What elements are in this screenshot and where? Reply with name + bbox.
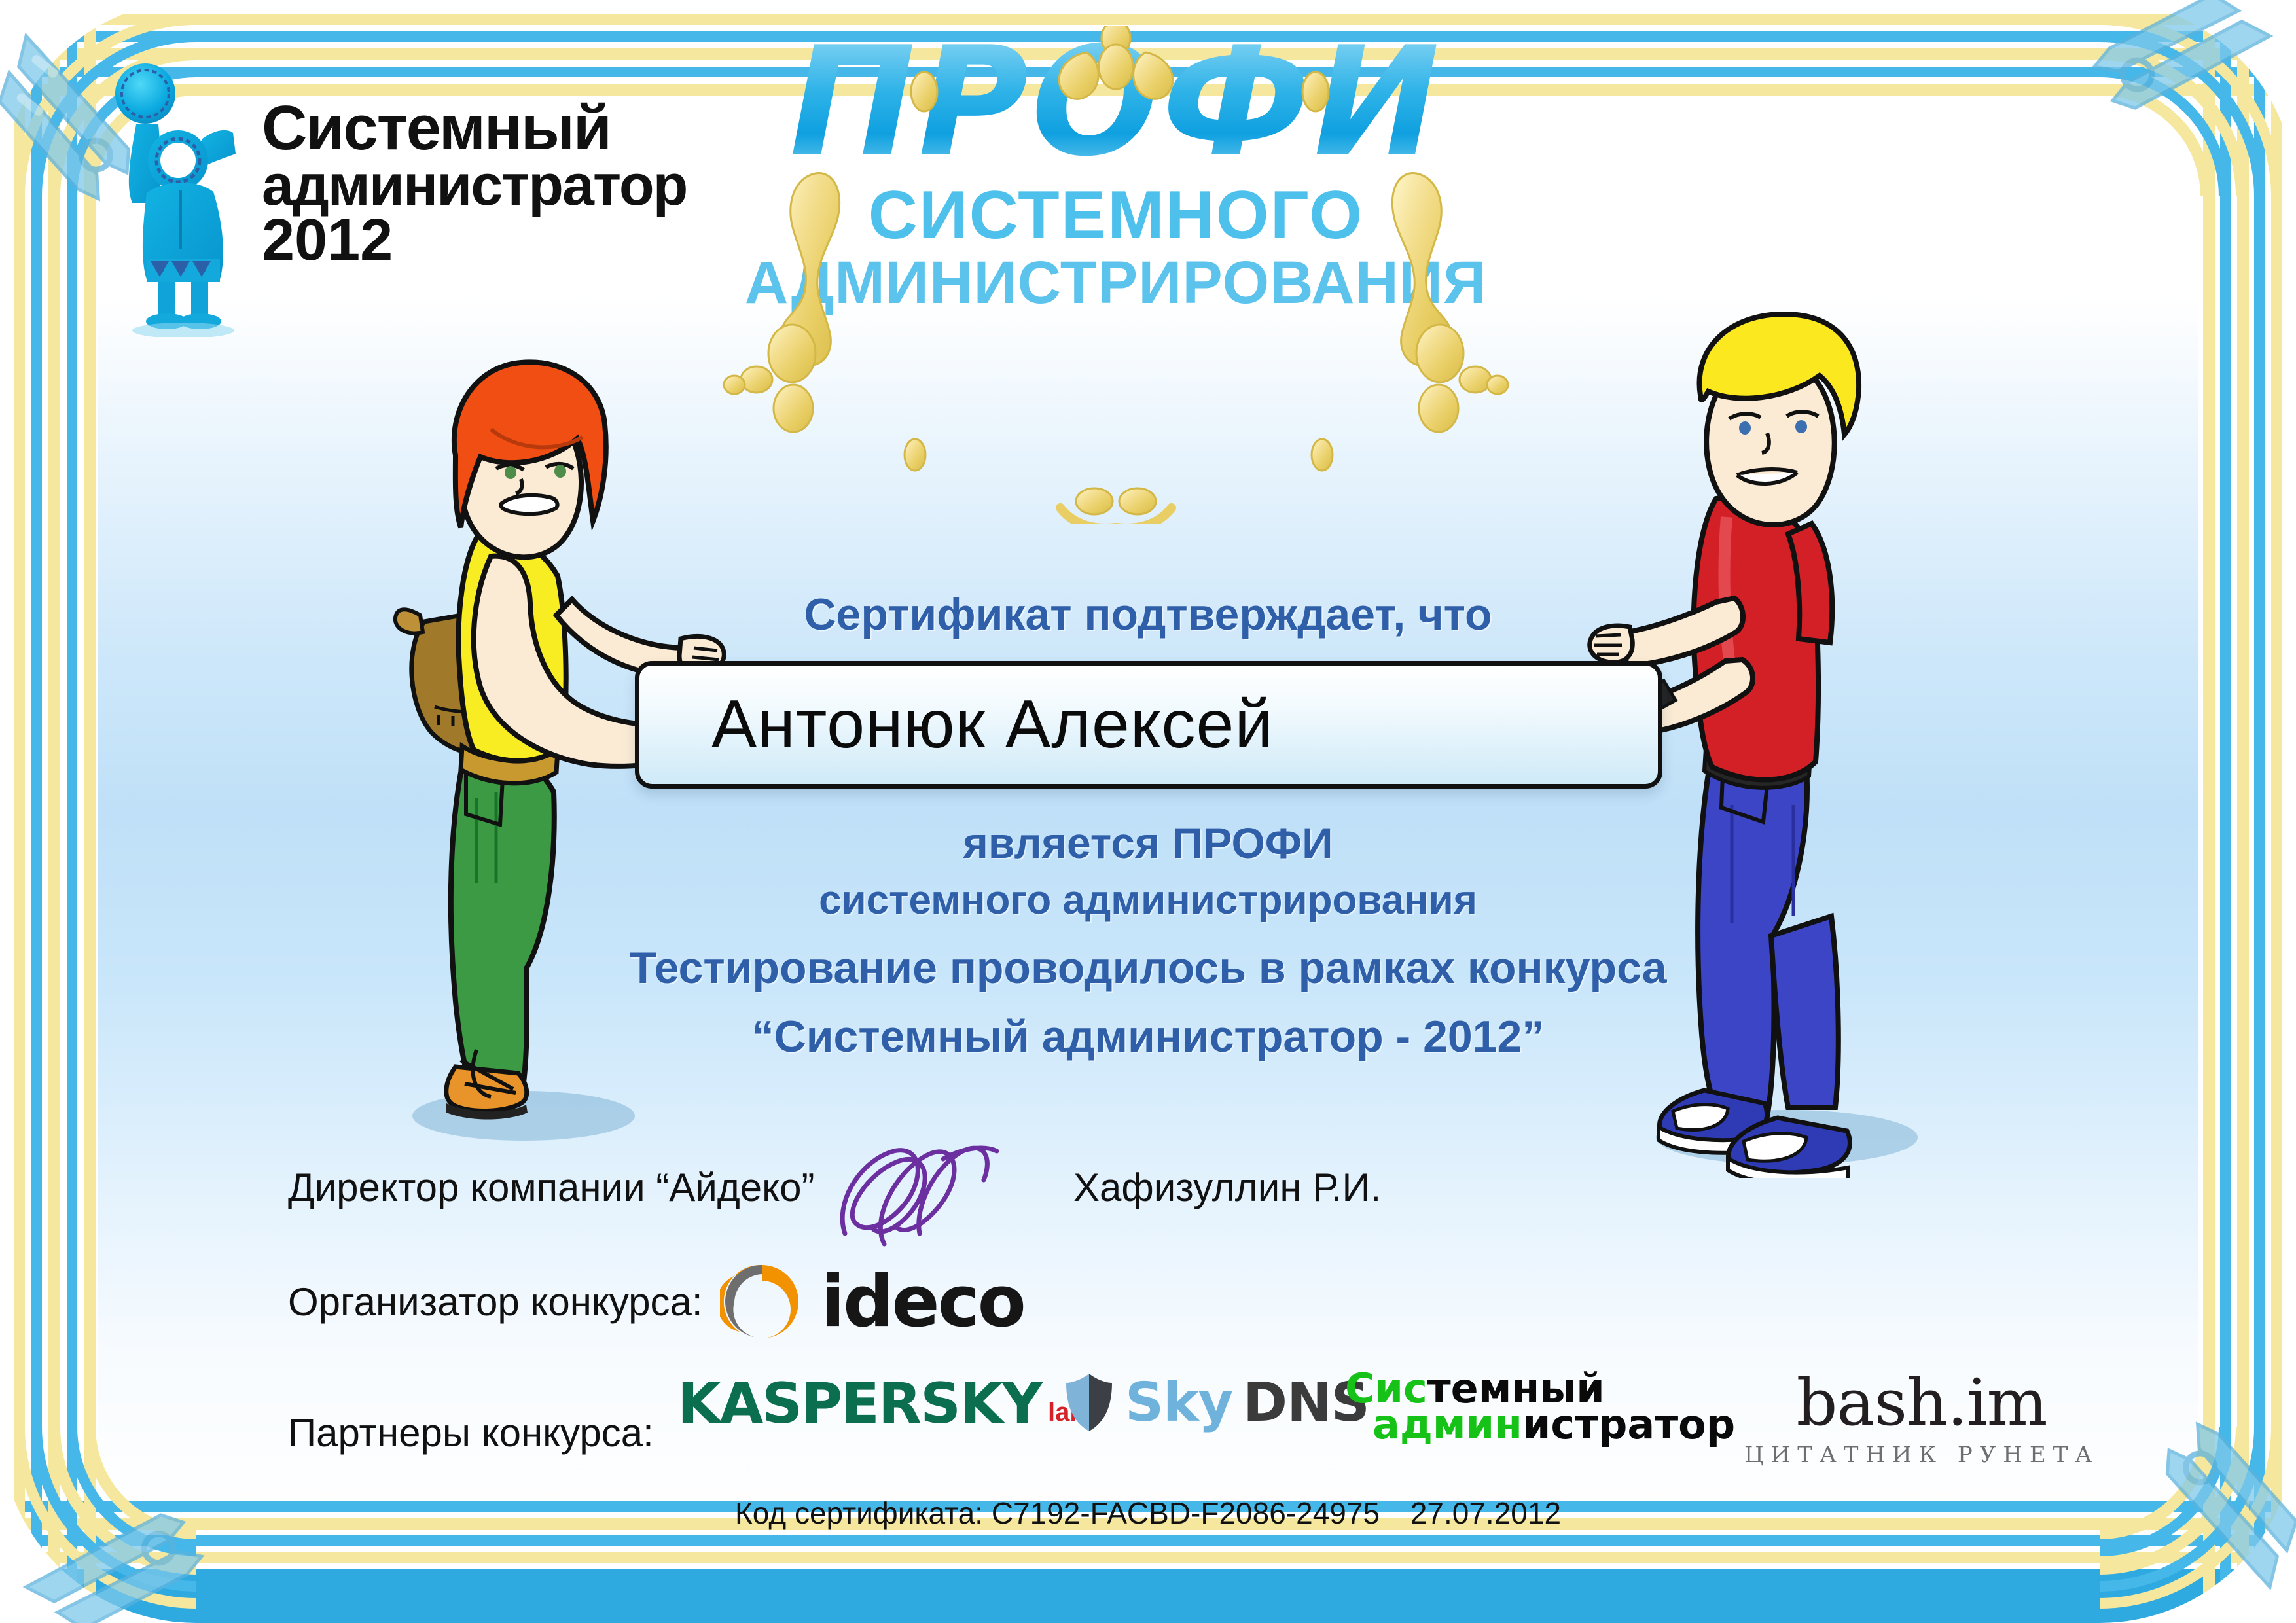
sysadmin-logo-line1: Системный (262, 98, 694, 158)
partners-label: Партнеры конкурса: (288, 1410, 654, 1455)
profi-logo-block: ПРОФИ СИСТЕМНОГО АДМИНИСТРИРОВАНИЯ (694, 26, 1538, 314)
profi-subtitle-1: СИСТЕМНОГО (694, 180, 1538, 251)
signature-mark (821, 1135, 1018, 1260)
bashim-wordmark: bash.im (1744, 1371, 2099, 1435)
body-line-4: “Системный администратор - 2012” (0, 1011, 2296, 1062)
bashim-tagline: ЦИТАТНИК РУНЕТА (1744, 1442, 2099, 1468)
body-line-2: системного администрирования (0, 877, 2296, 923)
director-role-label: Директор компании “Айдеко” (288, 1165, 814, 1210)
sysadmin-2012-logo: Системный администратор 2012 (98, 62, 687, 370)
recipient-name: Антонюк Алексей (639, 686, 1273, 764)
ideco-logo: ideco (720, 1260, 1024, 1344)
director-name: Хафизуллин Р.И. (1073, 1165, 1381, 1210)
certificate-headline: Сертификат подтверждает, что (0, 589, 2296, 640)
code-value: C7192-FACBD-F2086-24975 (992, 1496, 1380, 1530)
organizer-label: Организатор конкурса: (288, 1279, 703, 1325)
body-line-1: является ПРОФИ (0, 818, 2296, 868)
skydns-sky-text: Sky (1125, 1372, 1232, 1434)
ideco-wordmark: ideco (821, 1261, 1024, 1343)
kaspersky-wordmark: KASPERSKY (677, 1371, 1041, 1436)
certificate-canvas: Системный администратор 2012 (0, 0, 2296, 1623)
code-label: Код сертификата: (735, 1496, 983, 1530)
partner-logo-sysadmin-magazine: Системный администратор (1345, 1371, 1735, 1442)
profi-subtitle-2: АДМИНИСТРИРОВАНИЯ (694, 251, 1538, 315)
eskimo-mascot-icon (98, 62, 262, 337)
sysadm-green-2: админ (1372, 1400, 1522, 1448)
recipient-name-plate: Антонюк Алексей (635, 661, 1662, 789)
partner-logo-bashim: bash.im ЦИТАТНИК РУНЕТА (1744, 1371, 2099, 1468)
sysadm-black-2: истратор (1522, 1400, 1735, 1448)
shield-icon (1064, 1371, 1115, 1434)
sysadmin-logo-year: 2012 (262, 213, 694, 269)
ideco-swoosh-icon (720, 1260, 804, 1344)
partner-logo-skydns: Sky DNS (1064, 1371, 1369, 1434)
profi-wordmark: ПРОФИ (694, 26, 1538, 180)
issue-date: 27.07.2012 (1410, 1496, 1561, 1530)
sysadmin-logo-line2: администратор (262, 158, 694, 213)
body-line-3: Тестирование проводилось в рамках конкур… (0, 942, 2296, 993)
partner-logo-kaspersky: KASPERSKY lab (677, 1371, 1086, 1436)
certificate-code-line: Код сертификата: C7192-FACBD-F2086-24975… (0, 1495, 2296, 1531)
